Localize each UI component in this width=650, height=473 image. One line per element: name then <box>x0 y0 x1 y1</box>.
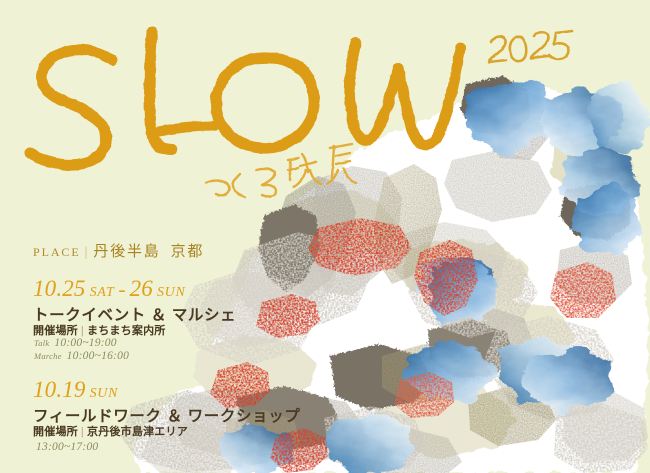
event-1-day-start: SAT <box>90 285 115 300</box>
event-2-day-start: SUN <box>90 386 119 401</box>
event-2-date: 10.19SUN <box>33 377 118 403</box>
event-2-venue-label: 開催場所 <box>33 426 78 438</box>
event-2-venue-name: 京丹後市島津エリア <box>87 426 188 438</box>
event-1-venue: 開催場所|まちまち案内所 <box>33 322 166 338</box>
event-1-time-talk: Talk10:00~19:00 <box>34 337 117 349</box>
place-label: PLACE <box>33 245 81 259</box>
event-2-time: 13:00~17:00 <box>36 441 98 453</box>
event-1-time-talk-label: Talk <box>34 338 49 348</box>
event-1-time-talk-value: 10:00~19:00 <box>54 337 116 349</box>
collage-taupe-shapes <box>236 76 630 452</box>
event-1-time-marche-label: Marche <box>34 351 62 361</box>
event-2-time-value: 13:00~17:00 <box>36 441 98 453</box>
event-1-venue-sep: | <box>81 325 84 337</box>
event-1-venue-name: まちまち案内所 <box>87 325 166 337</box>
event-1-venue-label: 開催場所 <box>33 325 78 337</box>
slow-wordmark <box>30 32 460 165</box>
place-line: PLACE|丹後半島京都 <box>33 240 204 261</box>
place-divider: | <box>85 244 89 259</box>
event-1-date-start: 10.25 <box>33 276 86 301</box>
collage-speckle-shapes <box>120 232 648 473</box>
place-city: 京都 <box>171 244 205 260</box>
event-2-venue: 開催場所|京丹後市島津エリア <box>33 423 188 439</box>
event-1-date-end: 26 <box>130 276 153 301</box>
subtitle-lettering <box>206 144 356 197</box>
poster-canvas: PLACE|丹後半島京都 10.25SAT-26SUN トークイベント ＆ マル… <box>0 0 650 473</box>
place-region: 丹後半島 <box>93 244 160 260</box>
event-2-date-start: 10.19 <box>33 377 86 402</box>
event-1-time-marche: Marche10:00~16:00 <box>34 350 129 362</box>
collage-red-shapes <box>210 218 616 473</box>
year-lettering <box>489 31 572 62</box>
event-1-date: 10.25SAT-26SUN <box>33 276 186 302</box>
event-1-day-end: SUN <box>157 285 186 300</box>
event-1-date-dash: - <box>118 277 125 301</box>
event-1-time-marche-value: 10:00~16:00 <box>67 350 129 362</box>
event-2-venue-sep: | <box>81 426 84 438</box>
